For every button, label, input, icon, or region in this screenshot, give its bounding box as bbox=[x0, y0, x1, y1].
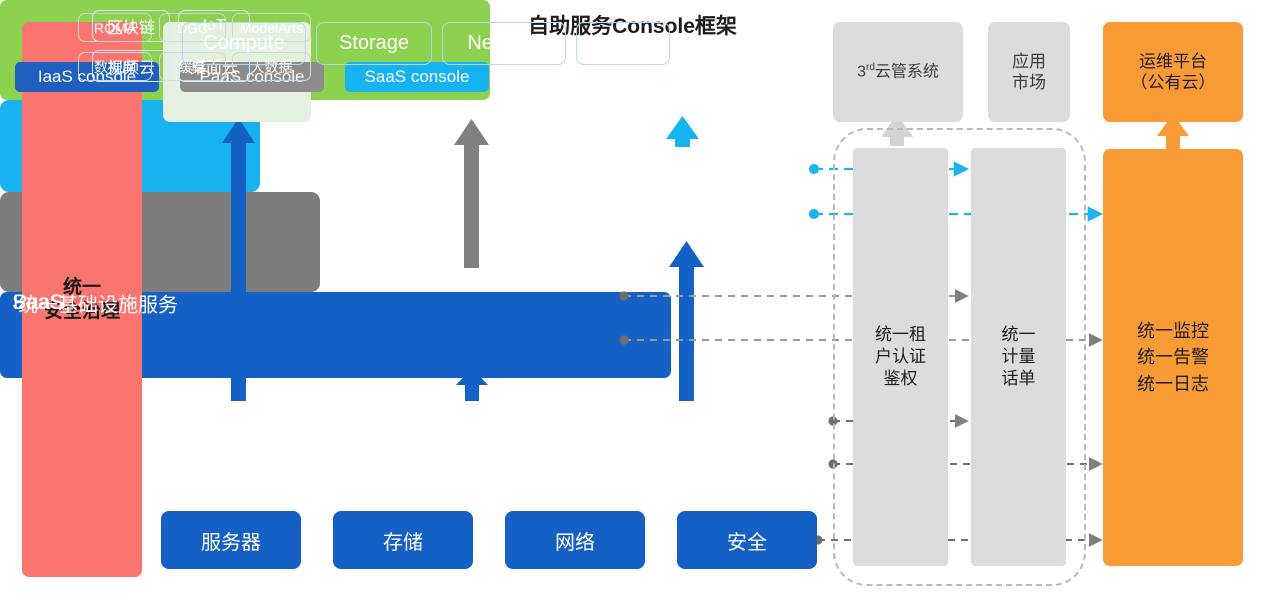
resource-block-network[interactable]: 网络 bbox=[505, 511, 645, 569]
paas-service-label: 数据库 bbox=[94, 57, 136, 77]
monitoring-line3: 统一日志 bbox=[1137, 371, 1209, 397]
third-cloud-text: 云管系统 bbox=[875, 63, 939, 80]
monitoring-column[interactable]: 统一监控 统一告警 统一日志 bbox=[1103, 149, 1243, 566]
infra-service-label: Storage bbox=[339, 32, 409, 55]
unified-infrastructure-label: 统一基础设施服务 bbox=[18, 288, 178, 317]
third-cloud-label: 3rd云管系统 bbox=[857, 62, 939, 82]
ops-platform-block[interactable]: 运维平台 （公有云） bbox=[1103, 22, 1243, 122]
third-cloud-prefix: 3 bbox=[857, 63, 866, 80]
metering-billing-column[interactable]: 统一 计量 话单 bbox=[971, 148, 1066, 566]
paas-service-roma[interactable]: ROMA bbox=[78, 13, 152, 42]
app-market-line2: 市场 bbox=[1012, 72, 1046, 93]
metering-line3: 话单 bbox=[1002, 368, 1036, 390]
metering-line2: 计量 bbox=[1002, 346, 1036, 368]
ops-platform-line2: （公有云） bbox=[1131, 72, 1216, 93]
resource-label: 网络 bbox=[555, 526, 595, 555]
app-market-line1: 应用 bbox=[1012, 51, 1046, 72]
saas-console-label: SaaS console bbox=[365, 67, 470, 87]
resource-block-storage[interactable]: 存储 bbox=[333, 511, 473, 569]
arrow-saas-to-console bbox=[666, 116, 699, 147]
infra-service-compute[interactable]: Compute bbox=[182, 22, 306, 65]
third-cloud-sup: rd bbox=[866, 62, 875, 73]
metering-line1: 统一 bbox=[1002, 324, 1036, 346]
arrow-infra-to-saas bbox=[669, 241, 704, 401]
third-party-cloud-management-block[interactable]: 3rd云管系统 bbox=[833, 22, 963, 122]
infra-service-storage[interactable]: Storage bbox=[316, 22, 432, 65]
resource-label: 服务器 bbox=[201, 526, 261, 555]
infra-service-cce[interactable]: CCE bbox=[576, 22, 670, 65]
infra-service-label: Compute bbox=[203, 32, 284, 55]
ops-platform-line1: 运维平台 bbox=[1131, 51, 1216, 72]
app-market-block[interactable]: 应用 市场 bbox=[988, 22, 1070, 122]
infra-service-label: CCE bbox=[602, 32, 644, 55]
resource-block-server[interactable]: 服务器 bbox=[161, 511, 301, 569]
resource-label: 安全 bbox=[727, 526, 767, 555]
paas-service-database[interactable]: 数据库 bbox=[78, 52, 152, 81]
saas-console-chip[interactable]: SaaS console bbox=[345, 62, 489, 92]
tenant-auth-column[interactable]: 统一租 户认证 鉴权 bbox=[853, 148, 948, 566]
tenant-auth-line2: 户认证 bbox=[875, 346, 926, 368]
tenant-auth-line1: 统一租 bbox=[875, 324, 926, 346]
monitoring-line1: 统一监控 bbox=[1137, 318, 1209, 344]
tenant-auth-line3: 鉴权 bbox=[875, 368, 926, 390]
infra-service-label: Network bbox=[467, 32, 540, 55]
resource-block-security[interactable]: 安全 bbox=[677, 511, 817, 569]
architecture-diagram: 统一 安全治理 API网关 自助服务Console框架 IaaS console… bbox=[0, 0, 1265, 605]
monitoring-line2: 统一告警 bbox=[1137, 344, 1209, 370]
resource-label: 存储 bbox=[383, 526, 423, 555]
infra-service-network[interactable]: Network bbox=[442, 22, 566, 65]
paas-service-label: ROMA bbox=[94, 20, 136, 36]
arrow-paas-to-console bbox=[454, 119, 489, 268]
